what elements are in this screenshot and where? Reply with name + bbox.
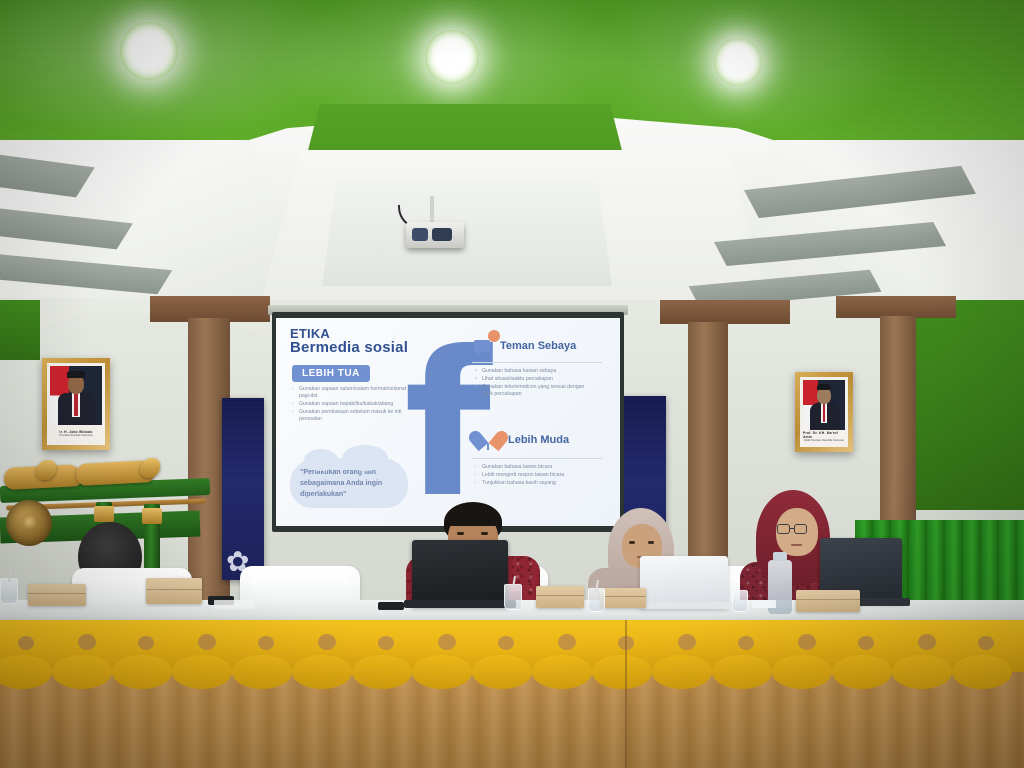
valance-scallop bbox=[652, 655, 712, 689]
valance-scallop bbox=[232, 655, 292, 689]
column-capital-right bbox=[660, 300, 790, 324]
valance-scallop bbox=[832, 655, 892, 689]
portrait-role: Wakil Presiden Republik Indonesia bbox=[804, 439, 844, 442]
president-portrait: Ir. H. Joko Widodo Presiden Republik Ind… bbox=[42, 358, 110, 450]
wall-column-far-right bbox=[880, 316, 916, 546]
heart-icon bbox=[476, 426, 502, 450]
portrait-role: Presiden Republik Indonesia bbox=[59, 434, 92, 437]
valance-scallop bbox=[52, 655, 112, 689]
slide-bullets-older: Gunakan sapaan salam/salam hormat/selama… bbox=[292, 386, 412, 424]
bullet-item: Gunakan sapaan salam/salam hormat/selama… bbox=[292, 386, 412, 400]
slide-divider bbox=[472, 458, 602, 459]
laptop-black-left bbox=[412, 540, 508, 606]
lens-right bbox=[794, 524, 807, 534]
ceiling-projector bbox=[406, 222, 464, 248]
projector-lens-icon bbox=[412, 228, 428, 241]
bullet-item: Gunakan pembukaan sebelum masuk ke inti … bbox=[292, 409, 412, 423]
gamelan-post-ornament bbox=[142, 508, 162, 524]
valance-scallop bbox=[412, 655, 472, 689]
laptop-white-center bbox=[640, 556, 728, 608]
chat-bubble-icon bbox=[474, 340, 490, 352]
slide-title: ETIKA Bermedia sosial bbox=[290, 327, 408, 356]
bullet-item: Gunakan sapaan bapak/ibu/kakak/abang bbox=[292, 401, 412, 408]
ceiling-downlight-2 bbox=[425, 30, 479, 84]
portrait-tie bbox=[74, 394, 77, 415]
table-valance bbox=[0, 620, 1024, 672]
valance-cutout bbox=[498, 636, 514, 650]
glasses-bridge bbox=[790, 528, 795, 529]
gamelan-post-2 bbox=[144, 504, 160, 578]
valance-scallop bbox=[892, 655, 952, 689]
gamelan-post-ornament bbox=[94, 506, 114, 522]
snack-box-4 bbox=[796, 590, 860, 612]
portrait-photo bbox=[50, 366, 102, 425]
valance-scallop bbox=[352, 655, 412, 689]
portrait-tie bbox=[823, 404, 826, 422]
downlight-core bbox=[135, 34, 163, 69]
valance-cutout bbox=[78, 634, 96, 650]
portrait-photo bbox=[803, 380, 845, 430]
slide-quote-cloud: "Perlakukan orang lain sebagaimana Anda … bbox=[290, 458, 408, 508]
valance-cutout bbox=[918, 634, 936, 650]
bullet-item: Tunjukkan bahasa kasih sayang bbox=[474, 480, 596, 487]
slide-heading-lebih-muda: Lebih Muda bbox=[508, 434, 569, 446]
valance-cutout bbox=[378, 636, 394, 650]
snack-box-3 bbox=[600, 588, 646, 608]
water-cup-1 bbox=[0, 578, 18, 604]
valance-cutout bbox=[738, 636, 754, 650]
bullet-item: Gunakan teks/emoticon yang sesuai dengan… bbox=[474, 384, 596, 399]
panelist-center-eye-right bbox=[648, 541, 654, 544]
slide-divider bbox=[472, 362, 602, 363]
valance-scallop bbox=[112, 655, 172, 689]
photo-scene: Ir. H. Joko Widodo Presiden Republik Ind… bbox=[0, 0, 1024, 768]
paper-sheet bbox=[214, 600, 254, 609]
valance-cutout bbox=[138, 636, 154, 650]
snack-box-2 bbox=[536, 586, 584, 608]
water-cup-3 bbox=[588, 588, 605, 612]
snack-box-1 bbox=[146, 578, 202, 604]
table-skirt-seam bbox=[625, 620, 627, 768]
panelist-left-eye-left bbox=[457, 532, 464, 535]
ceiling-downlight-3 bbox=[714, 38, 762, 86]
ceiling-downlight-1 bbox=[120, 22, 178, 80]
valance-scallop bbox=[472, 655, 532, 689]
portrait-mat: Prof. Dr. KH. Ma'ruf Amin Wakil Presiden… bbox=[800, 377, 848, 447]
panelist-left-hair-front bbox=[446, 508, 500, 526]
green-wall-right bbox=[905, 300, 1024, 510]
downlight-core bbox=[439, 41, 465, 73]
downlight-core bbox=[726, 48, 749, 77]
projector-light-spill bbox=[322, 178, 612, 286]
valance-scallop bbox=[772, 655, 832, 689]
presentation-slide: f ETIKA Bermedia sosial LEBIH TUA Gunaka… bbox=[276, 318, 620, 526]
valance-cutout bbox=[978, 636, 994, 650]
vice-president-portrait: Prof. Dr. KH. Ma'ruf Amin Wakil Presiden… bbox=[795, 372, 853, 452]
gong-small bbox=[6, 500, 52, 546]
bullet-item: Gunakan bahasa kawan sebaya bbox=[474, 368, 596, 375]
panelist-center-eye-left bbox=[629, 541, 635, 544]
emoji-face-icon bbox=[488, 330, 500, 342]
slide-heading-teman-sebaya: Teman Sebaya bbox=[500, 340, 576, 352]
valance-scallop bbox=[172, 655, 232, 689]
bottle-cap-icon bbox=[773, 552, 786, 561]
peci-cap-icon bbox=[817, 384, 831, 390]
bullet-item: Gunakan bahasa lawan bicara bbox=[474, 464, 596, 471]
valance-cutout bbox=[198, 634, 216, 650]
bullet-item: Lihat situasi/waktu percakapan bbox=[474, 376, 596, 383]
panelist-left-eye-right bbox=[481, 532, 488, 535]
valance-cutout bbox=[678, 634, 696, 650]
smartphone-2 bbox=[378, 602, 404, 610]
peci-cap-icon bbox=[67, 371, 85, 379]
slide-bullets-peer: Gunakan bahasa kawan sebaya Lihat situas… bbox=[474, 368, 596, 399]
valance-scallop bbox=[532, 655, 592, 689]
valance-scallop bbox=[712, 655, 772, 689]
valance-cutout bbox=[558, 634, 576, 650]
valance-scallop bbox=[592, 655, 652, 689]
valance-cutout bbox=[318, 634, 336, 650]
panelist-right-mouth bbox=[791, 544, 802, 546]
heart-stem bbox=[487, 443, 489, 450]
valance-cutout bbox=[438, 634, 456, 650]
green-wall-left bbox=[0, 300, 40, 360]
portrait-nameplate: Ir. H. Joko Widodo Presiden Republik Ind… bbox=[50, 425, 102, 442]
lens-left bbox=[777, 524, 790, 534]
slide-bullets-younger: Gunakan bahasa lawan bicara Lebih menger… bbox=[474, 464, 596, 488]
valance-scallop bbox=[292, 655, 352, 689]
portrait-nameplate: Prof. Dr. KH. Ma'ruf Amin Wakil Presiden… bbox=[803, 430, 845, 444]
valance-cutout bbox=[18, 636, 34, 650]
column-capital-far-right bbox=[836, 296, 956, 318]
water-cup-4 bbox=[732, 590, 748, 612]
eyeglasses-icon bbox=[777, 524, 819, 536]
paper-sheet-2 bbox=[752, 600, 776, 608]
slide-title-line2: Bermedia sosial bbox=[290, 340, 408, 356]
valance-cutout bbox=[258, 636, 274, 650]
blue-banner-left: ✿ bbox=[222, 398, 264, 580]
valance-cutout bbox=[798, 634, 816, 650]
portrait-mat: Ir. H. Joko Widodo Presiden Republik Ind… bbox=[47, 363, 105, 445]
gong-boss bbox=[22, 514, 37, 529]
valance-cutout bbox=[858, 636, 874, 650]
laptop-white-center-base bbox=[634, 602, 734, 609]
water-cup-2 bbox=[504, 584, 522, 610]
snack-box-5 bbox=[28, 584, 86, 606]
bullet-item: Lebih mengerti respon lawan bicara bbox=[474, 472, 596, 479]
laptop-black-left-base bbox=[404, 600, 516, 608]
projector-panel bbox=[432, 228, 452, 241]
slide-pill-lebih-tua: LEBIH TUA bbox=[292, 365, 370, 382]
valance-scallop bbox=[952, 655, 1012, 689]
dragon-head-carving-2 bbox=[140, 458, 160, 478]
